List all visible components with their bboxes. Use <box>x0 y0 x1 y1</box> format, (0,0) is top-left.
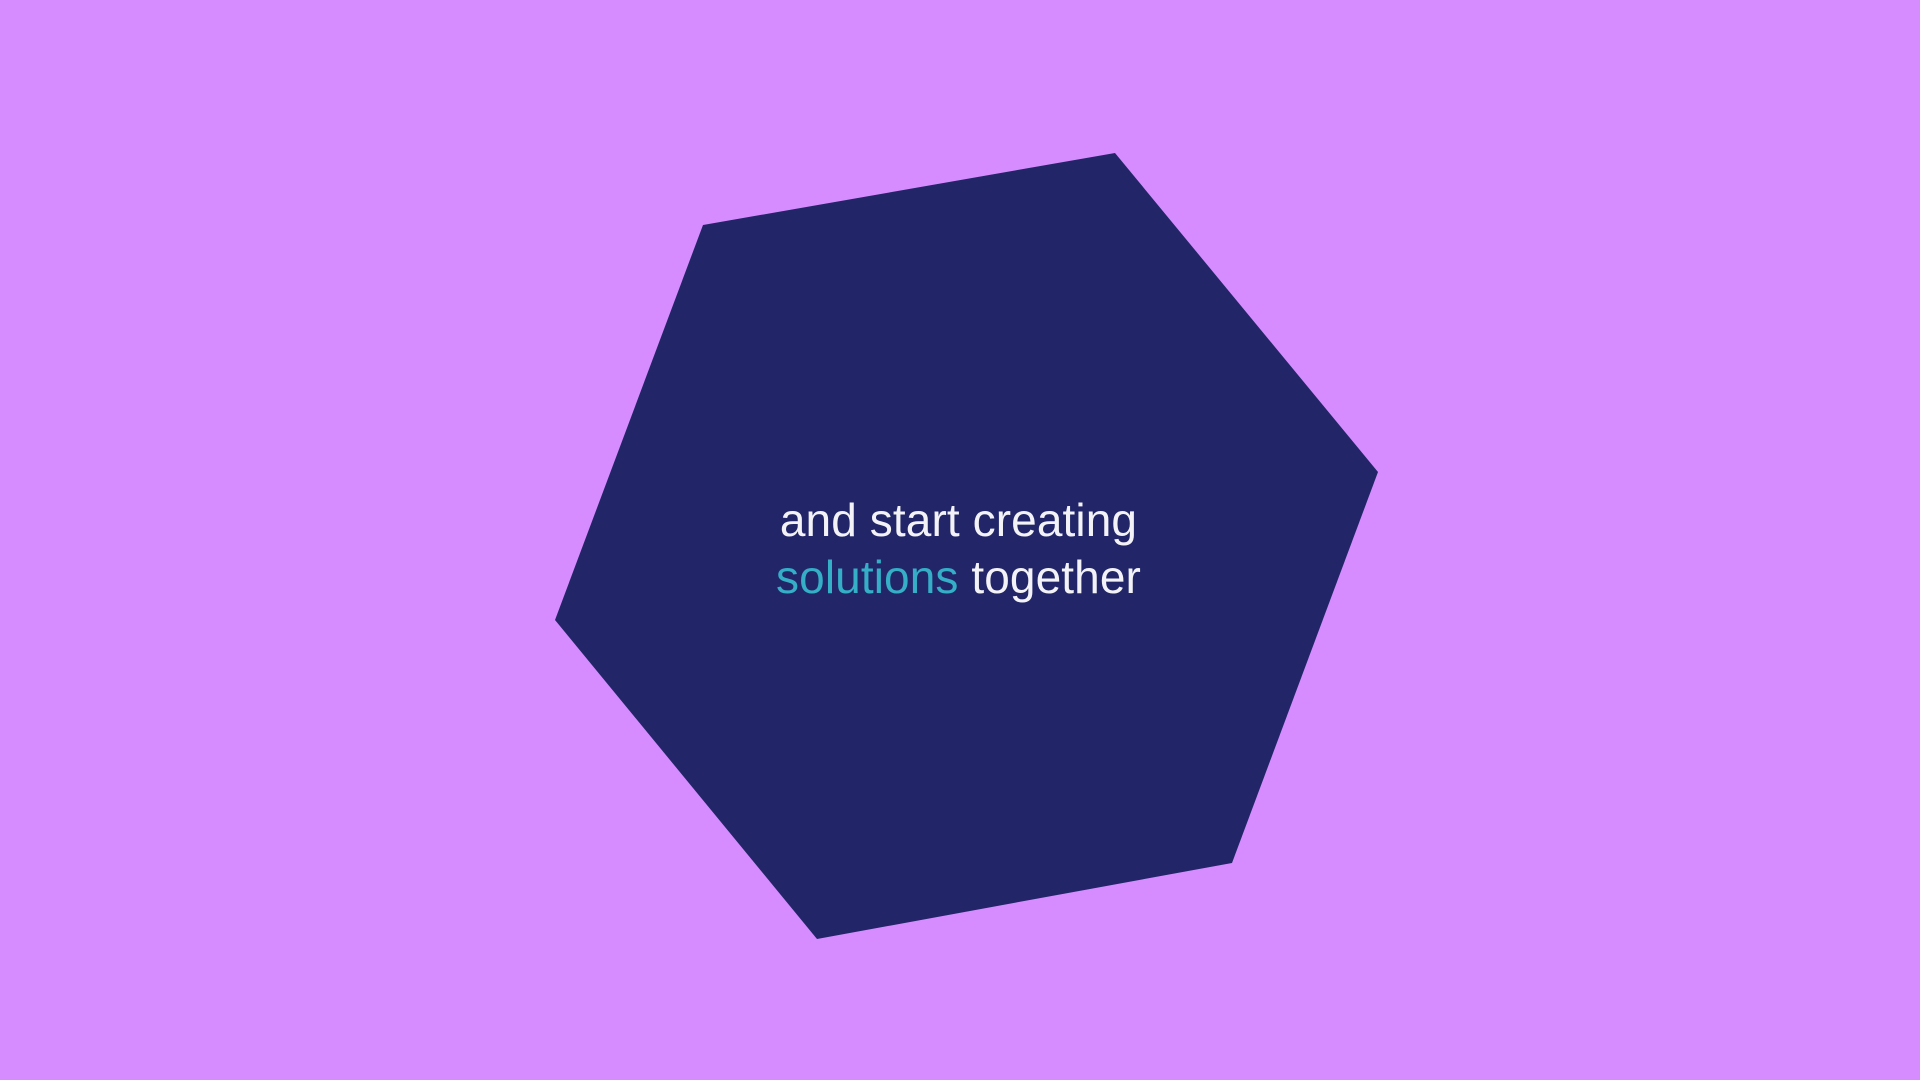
slide-canvas: and start creating solutions together <box>0 0 1920 1080</box>
hexagon-graphic <box>0 0 1920 1080</box>
hexagon-shape <box>555 153 1378 939</box>
